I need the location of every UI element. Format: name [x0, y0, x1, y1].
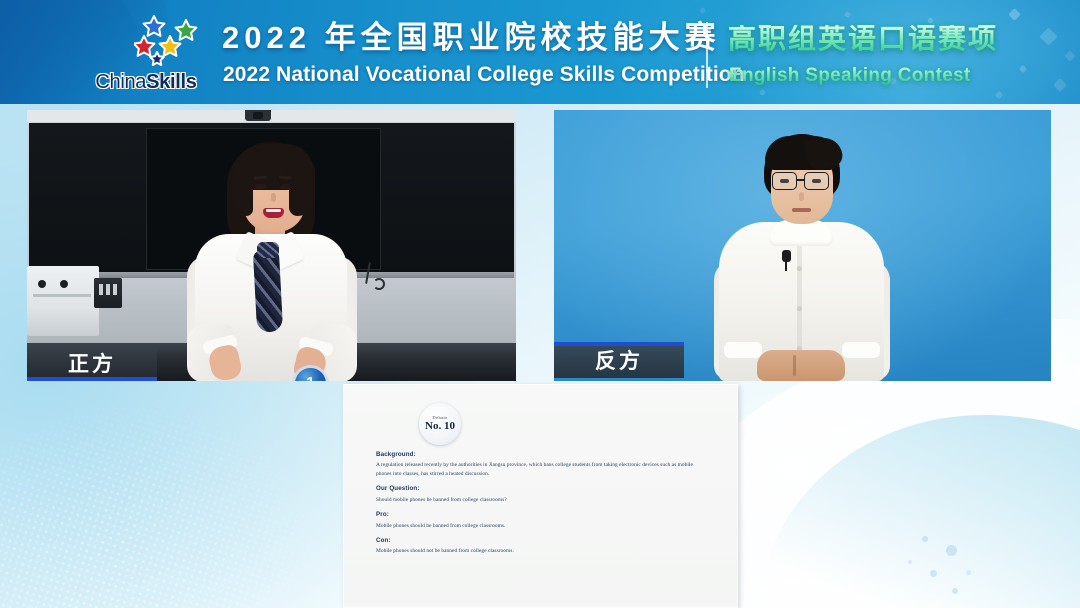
speaker-nose	[271, 193, 276, 202]
debate-number-badge: Debate No. 10	[419, 403, 461, 445]
logo-stars-icon	[134, 12, 210, 68]
page-header: ChinaSkills 2022 年全国职业院校技能大赛 2022 Nation…	[0, 0, 1080, 104]
logo-wordmark: ChinaSkills	[82, 72, 210, 92]
background-bubble	[930, 570, 937, 577]
speaker-necktie	[253, 249, 283, 332]
contestant-number-pro: 1	[295, 368, 326, 381]
camera-icon	[245, 110, 271, 121]
document-heading-question: Our Question:	[376, 486, 706, 493]
podium-knob	[60, 280, 68, 288]
contest-subtitle-en: English Speaking Contest	[729, 66, 971, 85]
background-bubble	[966, 570, 971, 575]
speaker2-mouth	[792, 208, 811, 212]
speaker2-cuff-left	[724, 342, 762, 358]
debate-badge-number: No. 10	[425, 421, 455, 432]
document-text-question: Should mobile phones be banned from coll…	[376, 496, 706, 505]
speaker2-nose	[799, 192, 804, 201]
background-bubble	[908, 560, 912, 564]
debate-topic-document[interactable]: Debate No. 10 Background: A regulation r…	[343, 384, 738, 608]
podium	[27, 266, 99, 336]
document-heading-pro: Pro:	[376, 512, 706, 519]
video-panel-pro[interactable]: 1	[27, 110, 516, 381]
video-panel-con[interactable]: 2	[554, 110, 1051, 381]
competition-title-en: 2022 National Vocational College Skills …	[223, 64, 745, 85]
side-label-pro: 正方	[27, 345, 157, 381]
speaker-eye-left	[255, 184, 266, 189]
side-label-accent-bar	[554, 342, 684, 346]
lapel-microphone-icon	[782, 250, 791, 262]
eyeglasses-bridge	[797, 179, 805, 181]
cable-loop	[373, 278, 385, 290]
background-bubble	[946, 545, 957, 556]
podium-knob	[38, 280, 46, 288]
speaker-hair-side-left	[233, 158, 253, 216]
speaker-tie-knot	[257, 242, 279, 258]
speaker2-hands	[757, 350, 845, 381]
document-text-pro: Mobile phones should be banned from coll…	[376, 522, 706, 531]
eyeglasses-icon	[804, 172, 829, 190]
speaker-hair-side-right	[289, 154, 315, 216]
podium-slot	[33, 294, 91, 297]
side-label-con-text: 反方	[595, 345, 643, 375]
background-bubble	[952, 588, 958, 594]
side-label-accent-bar	[27, 377, 157, 381]
ceiling	[27, 110, 516, 122]
document-body: Background: A regulation released recent…	[376, 452, 706, 556]
header-divider	[706, 22, 708, 88]
classroom-scene: 1	[27, 110, 516, 381]
speaker2-button	[797, 266, 802, 271]
speaker-mouth	[263, 208, 284, 218]
contestant-number-badge: 1	[295, 368, 326, 381]
broadcast-stage: ChinaSkills 2022 年全国职业院校技能大赛 2022 Nation…	[0, 0, 1080, 608]
logo-word-china: China	[95, 71, 146, 93]
side-label-pro-text: 正方	[68, 348, 116, 378]
contest-subtitle-cn: 高职组英语口语赛项	[728, 25, 998, 53]
eyeglasses-icon	[772, 172, 797, 190]
chinaskills-logo: ChinaSkills	[82, 12, 210, 94]
document-text-background: A regulation released recently by the au…	[376, 461, 706, 478]
side-label-con: 反方	[554, 342, 684, 378]
document-text-con: Mobile phones should not be banned from …	[376, 547, 706, 556]
speaker-eye-right	[280, 184, 291, 189]
equipment-box	[94, 278, 122, 308]
document-heading-background: Background:	[376, 452, 706, 459]
speaker2-cuff-right	[842, 342, 880, 358]
background-bubble	[922, 536, 928, 542]
logo-word-skills: Skills	[146, 71, 196, 93]
speaker2-button	[797, 306, 802, 311]
competition-title-cn: 2022 年全国职业院校技能大赛	[222, 22, 721, 53]
studio-scene: 2	[554, 110, 1051, 381]
document-heading-con: Con:	[376, 538, 706, 545]
